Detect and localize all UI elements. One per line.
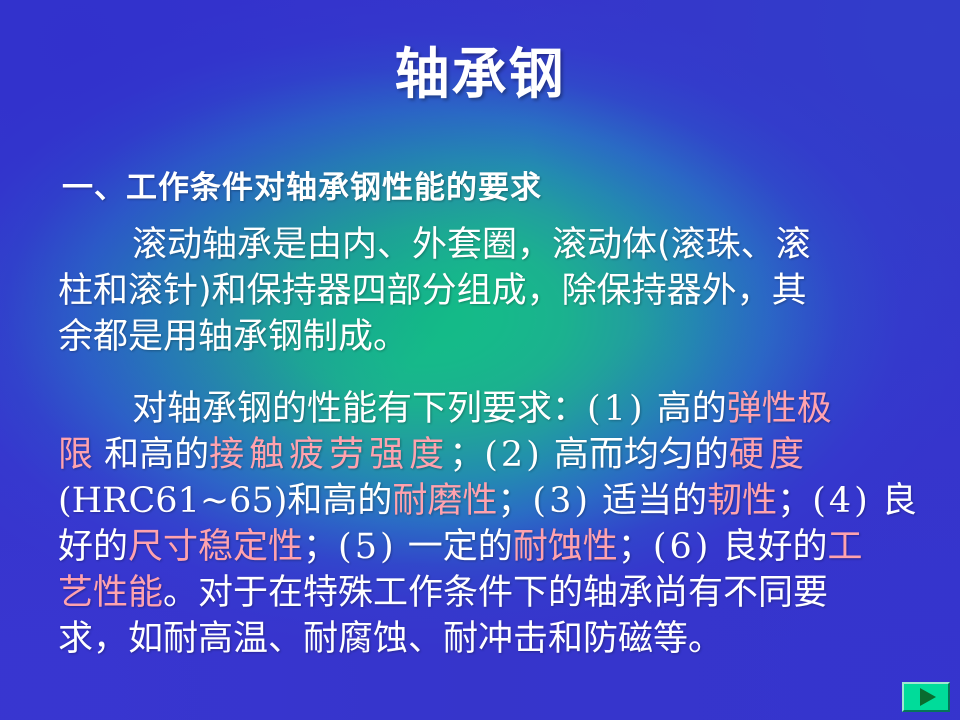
p2l3-highlight-wear-resistance: 耐磨性 [392, 481, 497, 521]
p2l2-highlight-limit-cont: 限 [58, 435, 93, 475]
p2l3-text-b: 和高的 [287, 481, 392, 521]
paragraph-2-line-6: 求，如耐高温、耐腐蚀、耐冲击和防磁等。 [58, 616, 928, 662]
p2l4-highlight-corrosion-resistance: 耐蚀性 [513, 527, 618, 567]
p2l5-text-b: 。对于在特殊工作条件下的轴承尚有不同要 [163, 573, 828, 613]
p2l6-text-a: 求，如耐高温、耐腐蚀、耐冲击和防磁等。 [58, 619, 723, 659]
p2l3-text-f: 适当的 [602, 481, 707, 521]
p2l4-text-i: 良好的 [723, 527, 828, 567]
body-paragraph-1: 滚动轴承是由内、外套圈，滚动体(滚珠、滚 柱和滚针)和保持器四部分组成，除保持器… [58, 222, 928, 360]
body-paragraph-2: 对轴承钢的性能有下列要求：(1) 高的弹性极 限 和高的接触疲劳强度；(2) 高… [58, 386, 928, 662]
p2l4-enum-6: (6) [653, 527, 712, 567]
p2l2-sep-d: ； [449, 435, 484, 475]
slide-title: 轴承钢 [0, 44, 960, 105]
p2l3-sep-h: ； [777, 481, 812, 521]
section-heading: 一、工作条件对轴承钢性能的要求 [62, 162, 542, 207]
p2l2-text-f: 高而均匀的 [554, 435, 729, 475]
p2l1-enum-1: (1) [587, 389, 646, 429]
slide-content: 轴承钢 一、工作条件对轴承钢性能的要求 滚动轴承是由内、外套圈，滚动体(滚珠、滚… [0, 0, 960, 720]
p2l3-text-j: 良 [882, 481, 917, 521]
paragraph-2-line-2: 限 和高的接触疲劳强度；(2) 高而均匀的硬度 [58, 432, 928, 478]
p2l3-enum-3: (3) [532, 481, 591, 521]
p2l4-highlight-process-1: 工 [828, 527, 863, 567]
paragraph-2-line-5: 艺性能。对于在特殊工作条件下的轴承尚有不同要 [58, 570, 928, 616]
p2l4-text-e: 一定的 [408, 527, 513, 567]
paragraph-1-line-2: 柱和滚针)和保持器四部分组成，除保持器外，其 [58, 268, 928, 314]
p2l3-hardness-spec: (HRC61~65) [58, 481, 287, 521]
p2l1-text-a: 对轴承钢的性能有下列要求： [132, 389, 587, 429]
presentation-slide: 轴承钢 一、工作条件对轴承钢性能的要求 滚动轴承是由内、外套圈，滚动体(滚珠、滚… [0, 0, 960, 720]
play-triangle-icon [920, 688, 936, 706]
p2l4-sep-g: ； [618, 527, 653, 567]
p2l4-text-a: 好的 [58, 527, 128, 567]
p2l3-sep-d: ； [497, 481, 532, 521]
p2l2-enum-2: (2) [484, 435, 543, 475]
p2l1-highlight-elastic-limit: 弹性极 [727, 389, 832, 429]
p2l2-text-b: 和高的 [104, 435, 209, 475]
paragraph-2-line-1: 对轴承钢的性能有下列要求：(1) 高的弹性极 [58, 386, 928, 432]
p2l3-highlight-toughness: 韧性 [707, 481, 777, 521]
paragraph-1-line-3: 余都是用轴承钢制成。 [58, 314, 928, 360]
p2l4-sep-c: ； [303, 527, 338, 567]
p2l4-enum-5: (5) [338, 527, 397, 567]
paragraph-1-line-1: 滚动轴承是由内、外套圈，滚动体(滚珠、滚 [58, 222, 928, 268]
p2l2-highlight-hardness: 硬度 [729, 435, 809, 475]
paragraph-2-line-4: 好的尺寸稳定性；(5) 一定的耐蚀性；(6) 良好的工 [58, 524, 928, 570]
paragraph-2-line-3: (HRC61~65)和高的耐磨性；(3) 适当的韧性；(4) 良 [58, 478, 928, 524]
p2l4-highlight-dimensional-stability: 尺寸稳定性 [128, 527, 303, 567]
p2l5-highlight-process-2: 艺性能 [58, 573, 163, 613]
p2l2-highlight-contact-fatigue-strength: 接触疲劳强度 [209, 435, 449, 475]
next-slide-button[interactable] [902, 682, 950, 712]
p2l3-enum-4: (4) [812, 481, 871, 521]
p2l1-text-c: 高的 [657, 389, 727, 429]
